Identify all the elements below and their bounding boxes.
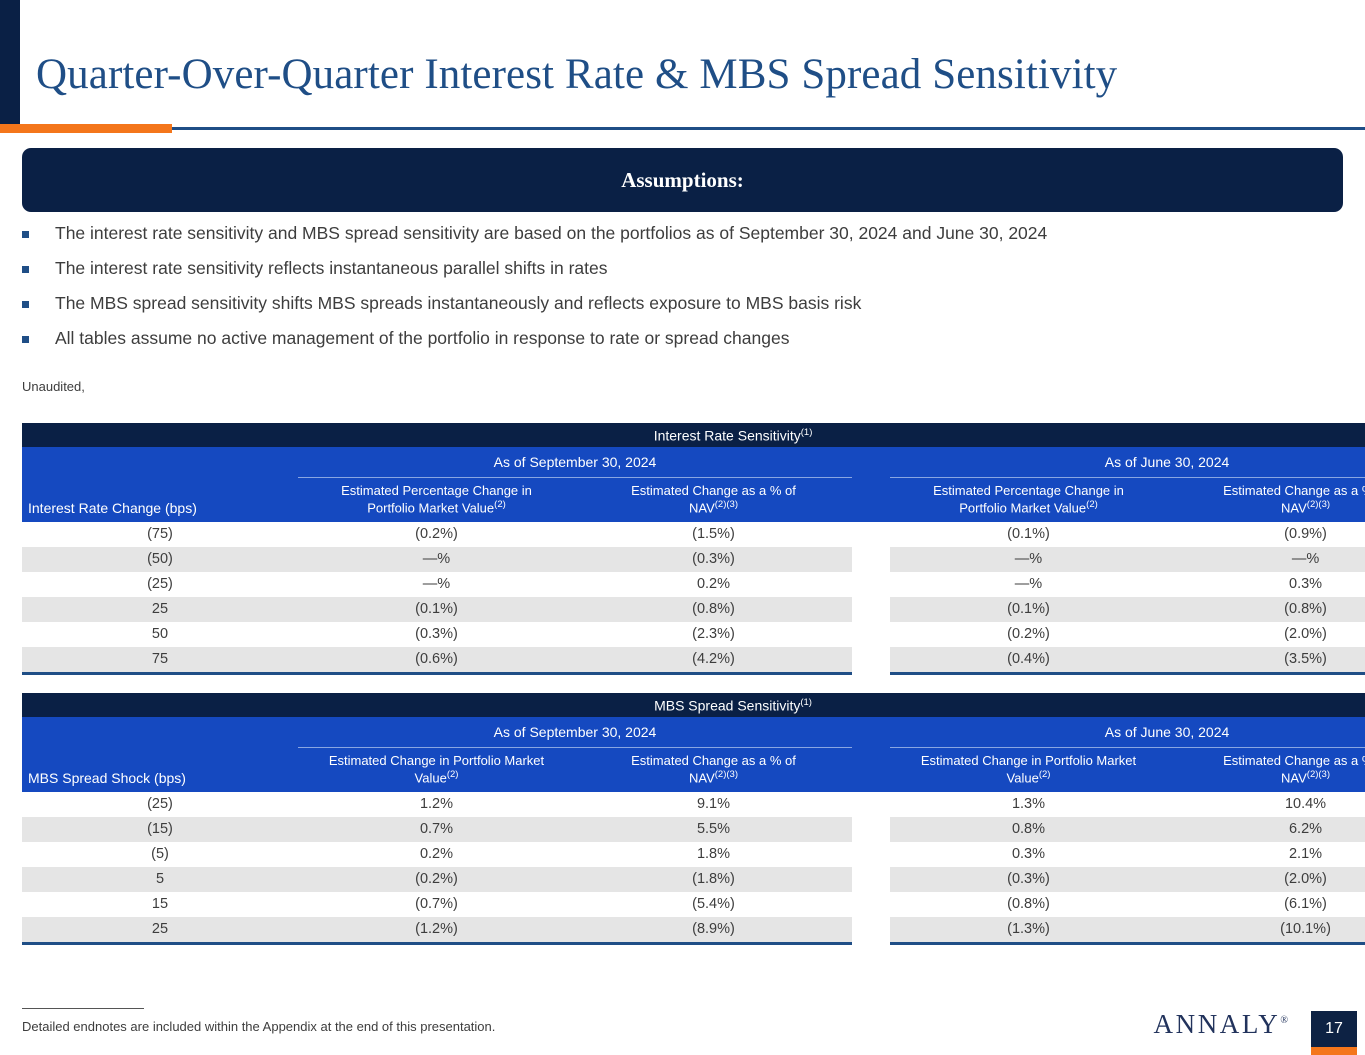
table-header: Interest Rate Sensitivity(1) As of Septe… xyxy=(22,423,1365,522)
table-row: 25 (0.1%) (0.8%) (0.1%) (0.8%) xyxy=(22,597,1365,622)
table-title-label: MBS Spread Sensitivity xyxy=(654,697,800,713)
column-header-line1: Estimated Change in Portfolio Market xyxy=(921,753,1136,768)
period-header-jun-2024: As of June 30, 2024 xyxy=(890,447,1365,478)
cell-sep-pmv: (1.2%) xyxy=(298,917,575,944)
registered-trademark-icon: ® xyxy=(1280,1015,1288,1026)
cell-sep-pmv: (0.2%) xyxy=(298,522,575,547)
column-header-sep-nav: Estimated Change as a % ofNAV(2)(3) xyxy=(575,748,852,792)
unaudited-note: Unaudited, xyxy=(22,379,85,394)
cell-jun-nav: (2.0%) xyxy=(1167,622,1365,647)
table-subheader-row: MBS Spread Shock (bps) Estimated Change … xyxy=(22,748,1365,792)
cell-spacer xyxy=(852,892,890,917)
cell-spacer xyxy=(852,522,890,547)
annaly-logo-text: ANNALY xyxy=(1154,1009,1281,1039)
title-underline-orange xyxy=(0,124,172,133)
column-header-jun-nav: Estimated Change as a % ofNAV(2)(3) xyxy=(1167,748,1365,792)
cell-row-label: (25) xyxy=(22,572,298,597)
period-header-jun-2024: As of June 30, 2024 xyxy=(890,717,1365,748)
cell-row-label: (5) xyxy=(22,842,298,867)
table-row: (25) —% 0.2% —% 0.3% xyxy=(22,572,1365,597)
cell-jun-pmv: (0.1%) xyxy=(890,597,1167,622)
column-header-line1: Estimated Change in Portfolio Market xyxy=(329,753,544,768)
column-header-line2: Value xyxy=(415,770,447,785)
cell-spacer xyxy=(852,917,890,944)
table-title-superscript: (1) xyxy=(800,697,812,708)
subheader-spacer xyxy=(852,478,890,522)
table-title-row: MBS Spread Sensitivity(1) xyxy=(22,693,1365,717)
page-title-wrap: Quarter-Over-Quarter Interest Rate & MBS… xyxy=(36,52,1325,124)
period-row-corner xyxy=(22,717,298,748)
annaly-logo: ANNALY® xyxy=(1154,1009,1289,1040)
cell-jun-nav: (10.1%) xyxy=(1167,917,1365,944)
column-header-line2: Portfolio Market Value xyxy=(959,500,1086,515)
cell-row-label: (25) xyxy=(22,792,298,817)
table-row: (50) —% (0.3%) —% —% xyxy=(22,547,1365,572)
cell-spacer xyxy=(852,792,890,817)
column-header-line2: NAV xyxy=(689,770,715,785)
cell-sep-nav: (8.9%) xyxy=(575,917,852,944)
cell-sep-nav: (5.4%) xyxy=(575,892,852,917)
column-header-sep-nav: Estimated Change as a % ofNAV(2)(3) xyxy=(575,478,852,522)
cell-jun-pmv: (1.3%) xyxy=(890,917,1167,944)
cell-spacer xyxy=(852,597,890,622)
cell-sep-nav: (0.3%) xyxy=(575,547,852,572)
column-header-jun-nav: Estimated Change as a % ofNAV(2)(3) xyxy=(1167,478,1365,522)
period-row-spacer xyxy=(852,447,890,478)
left-accent-bar xyxy=(0,0,20,128)
list-item-label: The MBS spread sensitivity shifts MBS sp… xyxy=(55,292,861,316)
cell-spacer xyxy=(852,622,890,647)
cell-sep-pmv: (0.2%) xyxy=(298,867,575,892)
column-header-superscript: (2) xyxy=(1039,769,1051,780)
table-row: 5 (0.2%) (1.8%) (0.3%) (2.0%) xyxy=(22,867,1365,892)
cell-jun-pmv: 1.3% xyxy=(890,792,1167,817)
cell-spacer xyxy=(852,547,890,572)
cell-jun-nav: (3.5%) xyxy=(1167,647,1365,674)
square-bullet-icon xyxy=(22,336,29,343)
cell-spacer xyxy=(852,647,890,674)
list-item-label: All tables assume no active management o… xyxy=(55,327,789,351)
table-title-cell: MBS Spread Sensitivity(1) xyxy=(22,693,1365,717)
cell-jun-pmv: —% xyxy=(890,547,1167,572)
cell-sep-pmv: —% xyxy=(298,547,575,572)
table-title-row: Interest Rate Sensitivity(1) xyxy=(22,423,1365,447)
column-header-line1: Estimated Change as a % of xyxy=(631,753,796,768)
cell-sep-pmv: (0.7%) xyxy=(298,892,575,917)
table-title-cell: Interest Rate Sensitivity(1) xyxy=(22,423,1365,447)
cell-spacer xyxy=(852,867,890,892)
column-header-line2: NAV xyxy=(1281,770,1307,785)
cell-row-label: (75) xyxy=(22,522,298,547)
cell-jun-pmv: (0.4%) xyxy=(890,647,1167,674)
cell-sep-pmv: (0.1%) xyxy=(298,597,575,622)
title-underline-navy xyxy=(172,127,1365,130)
list-item: The interest rate sensitivity reflects i… xyxy=(22,257,1335,292)
table-period-row: As of September 30, 2024 As of June 30, … xyxy=(22,717,1365,748)
column-header-line2: Portfolio Market Value xyxy=(367,500,494,515)
footnote-text: Detailed endnotes are included within th… xyxy=(22,1019,495,1034)
list-item-label: The interest rate sensitivity reflects i… xyxy=(55,257,607,281)
cell-sep-nav: (1.5%) xyxy=(575,522,852,547)
cell-jun-nav: 0.3% xyxy=(1167,572,1365,597)
table-row: 50 (0.3%) (2.3%) (0.2%) (2.0%) xyxy=(22,622,1365,647)
period-header-sep-2024: As of September 30, 2024 xyxy=(298,717,852,748)
footnote-divider xyxy=(22,1008,144,1009)
list-item: The interest rate sensitivity and MBS sp… xyxy=(22,222,1335,257)
cell-row-label: 5 xyxy=(22,867,298,892)
table-title-superscript: (1) xyxy=(801,427,813,438)
table-row: (5) 0.2% 1.8% 0.3% 2.1% xyxy=(22,842,1365,867)
column-header-superscript: (2) xyxy=(1086,499,1098,510)
cell-row-label: 15 xyxy=(22,892,298,917)
list-item: All tables assume no active management o… xyxy=(22,327,1335,362)
table-title-label: Interest Rate Sensitivity xyxy=(654,427,801,443)
table-row: 25 (1.2%) (8.9%) (1.3%) (10.1%) xyxy=(22,917,1365,944)
cell-sep-pmv: (0.6%) xyxy=(298,647,575,674)
cell-sep-nav: (1.8%) xyxy=(575,867,852,892)
cell-sep-nav: 0.2% xyxy=(575,572,852,597)
period-header-sep-2024: As of September 30, 2024 xyxy=(298,447,852,478)
assumptions-bullet-list: The interest rate sensitivity and MBS sp… xyxy=(22,222,1335,362)
row-label-header: Interest Rate Change (bps) xyxy=(22,478,298,522)
cell-jun-pmv: (0.3%) xyxy=(890,867,1167,892)
cell-jun-pmv: 0.3% xyxy=(890,842,1167,867)
cell-sep-pmv: 0.7% xyxy=(298,817,575,842)
column-header-jun-pmv: Estimated Change in Portfolio MarketValu… xyxy=(890,748,1167,792)
cell-row-label: (50) xyxy=(22,547,298,572)
cell-sep-pmv: —% xyxy=(298,572,575,597)
cell-row-label: 50 xyxy=(22,622,298,647)
page-number-badge: 17 xyxy=(1311,1011,1357,1047)
cell-spacer xyxy=(852,572,890,597)
cell-row-label: (15) xyxy=(22,817,298,842)
column-header-line2: NAV xyxy=(689,500,715,515)
table-subheader-row: Interest Rate Change (bps) Estimated Per… xyxy=(22,478,1365,522)
cell-jun-nav: 2.1% xyxy=(1167,842,1365,867)
row-label-header: MBS Spread Shock (bps) xyxy=(22,748,298,792)
table-row: (15) 0.7% 5.5% 0.8% 6.2% xyxy=(22,817,1365,842)
interest-rate-sensitivity-table: Interest Rate Sensitivity(1) As of Septe… xyxy=(22,423,1365,675)
column-header-superscript: (2)(3) xyxy=(1307,769,1330,780)
table-row: 15 (0.7%) (5.4%) (0.8%) (6.1%) xyxy=(22,892,1365,917)
cell-sep-nav: (0.8%) xyxy=(575,597,852,622)
cell-sep-pmv: 1.2% xyxy=(298,792,575,817)
cell-sep-nav: (2.3%) xyxy=(575,622,852,647)
cell-jun-nav: (2.0%) xyxy=(1167,867,1365,892)
cell-sep-nav: 1.8% xyxy=(575,842,852,867)
cell-jun-pmv: 0.8% xyxy=(890,817,1167,842)
period-row-spacer xyxy=(852,717,890,748)
assumptions-banner-label: Assumptions: xyxy=(621,168,744,193)
column-header-sep-pmv: Estimated Percentage Change inPortfolio … xyxy=(298,478,575,522)
cell-spacer xyxy=(852,817,890,842)
column-header-superscript: (2)(3) xyxy=(715,499,738,510)
column-header-jun-pmv: Estimated Percentage Change inPortfolio … xyxy=(890,478,1167,522)
square-bullet-icon xyxy=(22,266,29,273)
column-header-superscript: (2)(3) xyxy=(1307,499,1330,510)
cell-sep-nav: 5.5% xyxy=(575,817,852,842)
period-row-corner xyxy=(22,447,298,478)
table-body: (25) 1.2% 9.1% 1.3% 10.4% (15) 0.7% 5.5%… xyxy=(22,792,1365,944)
cell-jun-nav: (6.1%) xyxy=(1167,892,1365,917)
cell-sep-nav: 9.1% xyxy=(575,792,852,817)
cell-spacer xyxy=(852,842,890,867)
column-header-superscript: (2) xyxy=(447,769,459,780)
cell-jun-pmv: (0.2%) xyxy=(890,622,1167,647)
column-header-line1: Estimated Change as a % of xyxy=(631,483,796,498)
table-header: MBS Spread Sensitivity(1) As of Septembe… xyxy=(22,693,1365,792)
cell-jun-nav: (0.9%) xyxy=(1167,522,1365,547)
subheader-spacer xyxy=(852,748,890,792)
cell-jun-pmv: —% xyxy=(890,572,1167,597)
cell-sep-pmv: 0.2% xyxy=(298,842,575,867)
cell-sep-pmv: (0.3%) xyxy=(298,622,575,647)
table-row: (25) 1.2% 9.1% 1.3% 10.4% xyxy=(22,792,1365,817)
list-item-label: The interest rate sensitivity and MBS sp… xyxy=(55,222,1047,246)
column-header-line1: Estimated Change as a % of xyxy=(1223,483,1365,498)
cell-jun-nav: 6.2% xyxy=(1167,817,1365,842)
square-bullet-icon xyxy=(22,301,29,308)
column-header-superscript: (2)(3) xyxy=(715,769,738,780)
cell-jun-nav: 10.4% xyxy=(1167,792,1365,817)
assumptions-banner: Assumptions: xyxy=(22,148,1343,212)
cell-row-label: 75 xyxy=(22,647,298,674)
table-row: 75 (0.6%) (4.2%) (0.4%) (3.5%) xyxy=(22,647,1365,674)
column-header-line1: Estimated Percentage Change in xyxy=(933,483,1124,498)
column-header-line2: Value xyxy=(1007,770,1039,785)
cell-row-label: 25 xyxy=(22,597,298,622)
mbs-spread-sensitivity-table: MBS Spread Sensitivity(1) As of Septembe… xyxy=(22,693,1365,945)
column-header-line1: Estimated Change as a % of xyxy=(1223,753,1365,768)
page-badge-orange-accent xyxy=(1311,1047,1357,1055)
square-bullet-icon xyxy=(22,231,29,238)
page-number-label: 17 xyxy=(1325,1020,1343,1038)
list-item: The MBS spread sensitivity shifts MBS sp… xyxy=(22,292,1335,327)
cell-jun-nav: —% xyxy=(1167,547,1365,572)
cell-jun-pmv: (0.8%) xyxy=(890,892,1167,917)
cell-jun-pmv: (0.1%) xyxy=(890,522,1167,547)
column-header-line1: Estimated Percentage Change in xyxy=(341,483,532,498)
column-header-line2: NAV xyxy=(1281,500,1307,515)
table-row: (75) (0.2%) (1.5%) (0.1%) (0.9%) xyxy=(22,522,1365,547)
cell-jun-nav: (0.8%) xyxy=(1167,597,1365,622)
cell-row-label: 25 xyxy=(22,917,298,944)
table-period-row: As of September 30, 2024 As of June 30, … xyxy=(22,447,1365,478)
table-body: (75) (0.2%) (1.5%) (0.1%) (0.9%) (50) —%… xyxy=(22,522,1365,674)
page-title: Quarter-Over-Quarter Interest Rate & MBS… xyxy=(36,52,1325,97)
cell-sep-nav: (4.2%) xyxy=(575,647,852,674)
column-header-superscript: (2) xyxy=(494,499,506,510)
column-header-sep-pmv: Estimated Change in Portfolio MarketValu… xyxy=(298,748,575,792)
